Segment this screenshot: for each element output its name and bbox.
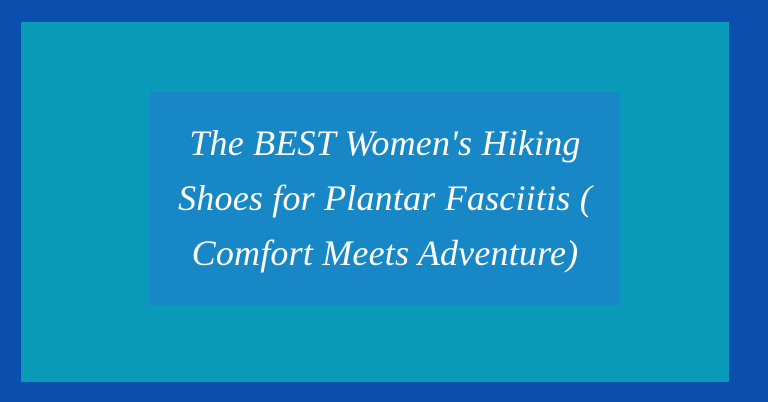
- headline-text: The BEST Women's Hiking Shoes for Planta…: [172, 116, 598, 281]
- caption-plate: The BEST Women's Hiking Shoes for Planta…: [150, 92, 620, 305]
- banner-frame: The BEST Women's Hiking Shoes for Planta…: [0, 0, 768, 402]
- headline-line-2: Shoes for Plantar Fasciitis (: [178, 171, 592, 226]
- teal-background-panel: The BEST Women's Hiking Shoes for Planta…: [21, 22, 729, 382]
- headline-line-1: The BEST Women's Hiking: [178, 116, 592, 171]
- headline-line-3: Comfort Meets Adventure): [178, 226, 592, 281]
